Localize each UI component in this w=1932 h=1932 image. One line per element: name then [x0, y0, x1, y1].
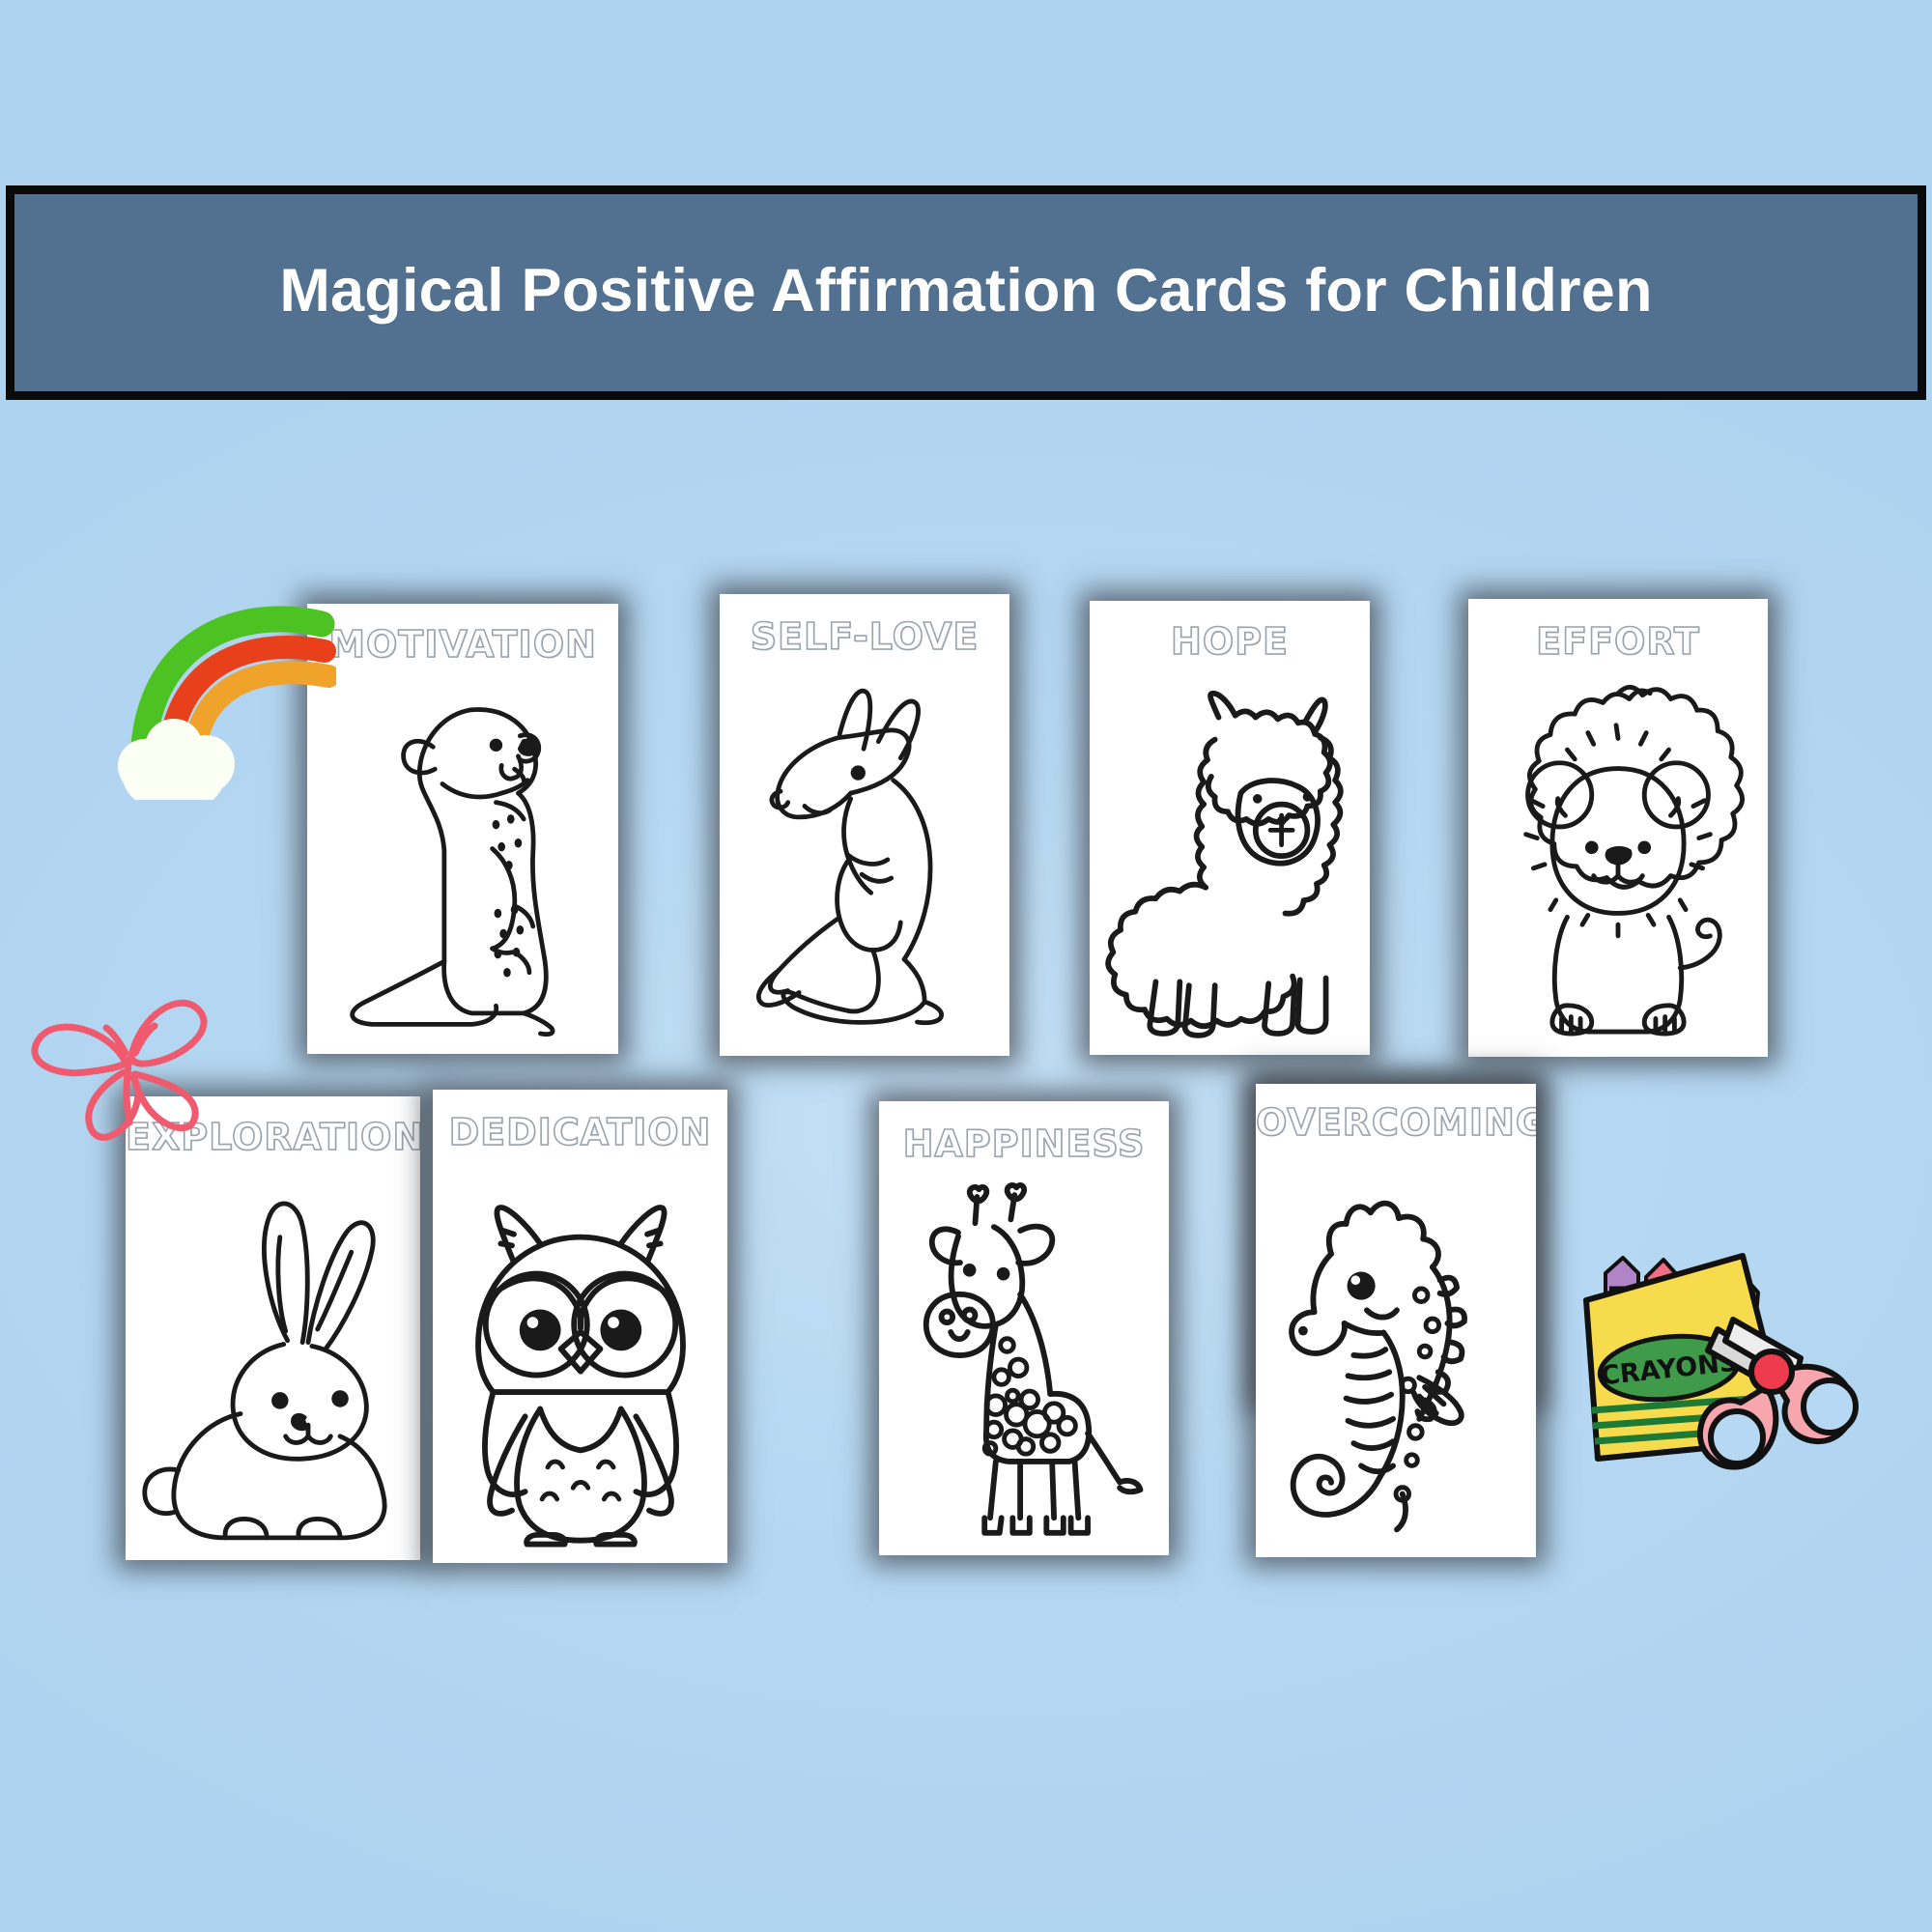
card-label-effort: EFFORT	[1468, 620, 1768, 663]
rainbow-icon	[114, 568, 336, 800]
seahorse-illustration	[1256, 1155, 1536, 1548]
owl-illustration	[433, 1165, 727, 1555]
butterfly-icon	[17, 987, 220, 1171]
affirmation-card-overcoming[interactable]: OVERCOMING	[1256, 1084, 1536, 1557]
card-label-happiness: HAPPINESS	[879, 1122, 1169, 1165]
page-title: Magical Positive Affirmation Cards for C…	[14, 256, 1918, 329]
giraffe-illustration	[879, 1175, 1169, 1549]
kangaroo-illustration	[720, 664, 1009, 1050]
lion-illustration	[1468, 668, 1768, 1051]
affirmation-card-dedication[interactable]: DEDICATION	[433, 1090, 727, 1563]
title-banner: Magical Positive Affirmation Cards for C…	[6, 185, 1926, 400]
affirmation-card-motivation[interactable]: MOTIVATION	[307, 604, 618, 1054]
otter-illustration	[307, 671, 618, 1048]
page-canvas: Magical Positive Affirmation Cards for C…	[0, 0, 1932, 1932]
alpaca-illustration	[1090, 670, 1370, 1049]
rabbit-illustration	[126, 1174, 420, 1552]
affirmation-card-effort[interactable]: EFFORT	[1468, 599, 1768, 1057]
card-label-dedication: DEDICATION	[433, 1111, 727, 1153]
card-label-overcoming: OVERCOMING	[1256, 1101, 1536, 1144]
affirmation-card-hope[interactable]: HOPE	[1090, 601, 1370, 1055]
card-label-self-love: SELF-LOVE	[720, 615, 1009, 658]
affirmation-card-happiness[interactable]: HAPPINESS	[879, 1101, 1169, 1555]
card-label-motivation: MOTIVATION	[307, 623, 618, 666]
card-label-hope: HOPE	[1090, 620, 1370, 663]
crayons-and-scissors-icon: CRAYONS	[1563, 1244, 1896, 1529]
affirmation-card-self-love[interactable]: SELF-LOVE	[720, 594, 1009, 1056]
